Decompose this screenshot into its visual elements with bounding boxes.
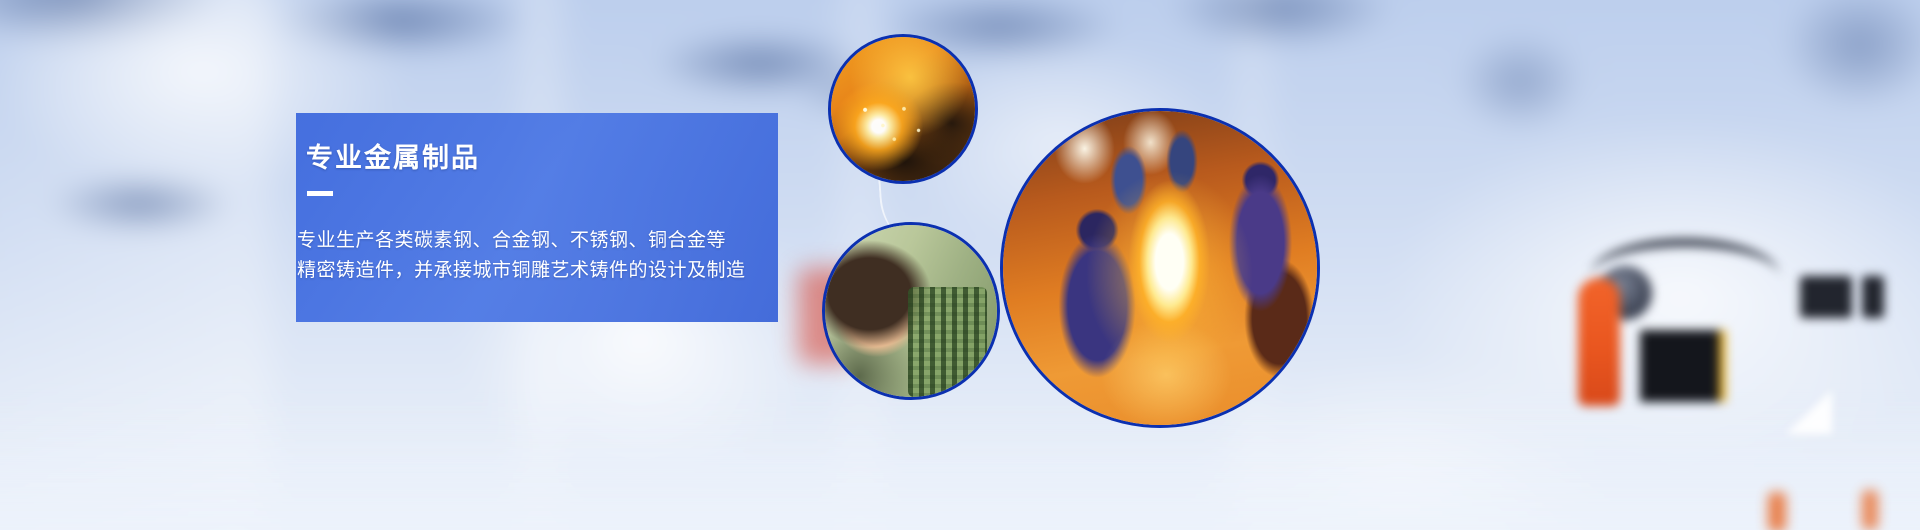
background-orange-marker-a — [1768, 492, 1786, 530]
hero-banner: 专业金属制品 专业生产各类碳素钢、合金钢、不锈钢、铜合金等 精密铸造件，并承接城… — [0, 0, 1920, 530]
background-machine-panel-b — [1862, 276, 1884, 318]
worker-machinery-image — [825, 225, 997, 397]
banner-description-line-1: 专业生产各类碳素钢、合金钢、不锈钢、铜合金等 — [297, 226, 775, 256]
banner-description-line-2: 精密铸造件，并承接城市铜雕艺术铸件的设计及制造 — [297, 256, 775, 286]
background-robot-arm — [1578, 278, 1620, 406]
banner-description: 专业生产各类碳素钢、合金钢、不锈钢、铜合金等 精密铸造件，并承接城市铜雕艺术铸件… — [297, 226, 775, 286]
worker-machinery-photo — [822, 222, 1000, 400]
background-orange-marker-b — [1862, 490, 1878, 530]
background-machine-panel-a — [1800, 276, 1852, 318]
welding-sparks-image — [831, 37, 975, 181]
background-control-box — [1640, 330, 1726, 402]
background-floor-haze — [0, 400, 1920, 530]
foundry-pour-image — [1003, 111, 1317, 425]
foundry-pour-photo — [1000, 108, 1320, 428]
background-white-triangle — [1786, 390, 1832, 434]
title-divider-rule — [307, 191, 333, 196]
banner-title: 专业金属制品 — [306, 136, 480, 175]
welding-sparks-photo — [828, 34, 978, 184]
